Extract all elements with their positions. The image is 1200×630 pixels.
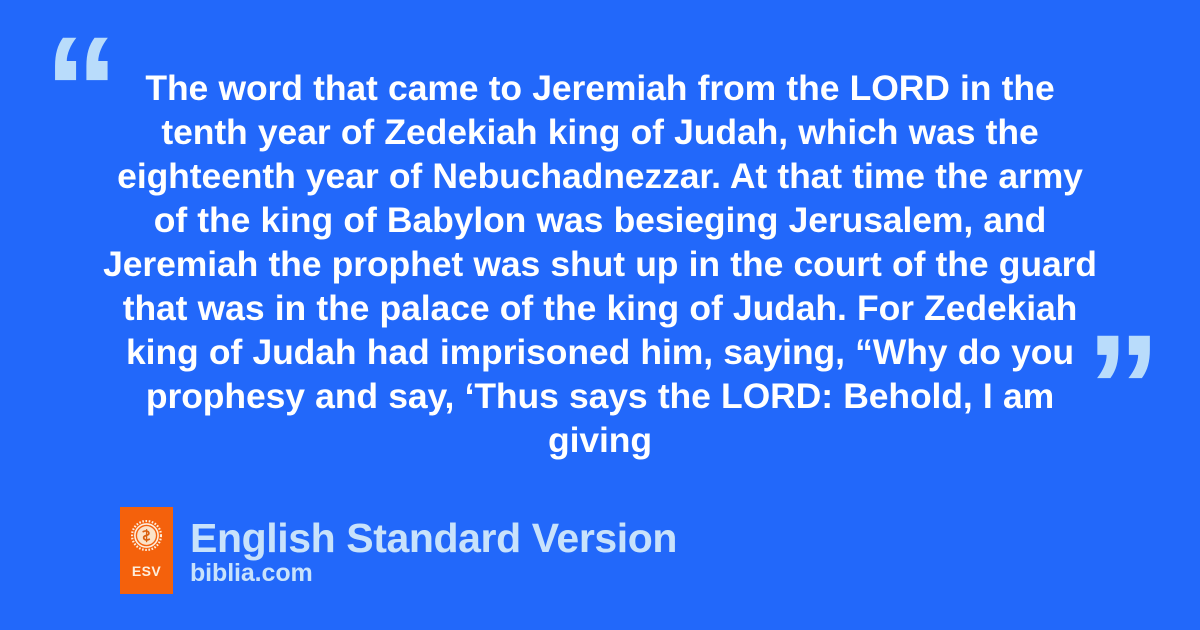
quote-text: The word that came to Jeremiah from the … xyxy=(100,66,1100,462)
esv-logo[interactable]: ESV xyxy=(120,507,173,594)
brand-title: English Standard Version xyxy=(190,515,677,561)
seal-emblem-icon xyxy=(131,520,162,551)
esv-abbreviation-label: ESV xyxy=(132,564,161,578)
footer-branding[interactable]: ESV English Standard Version biblia.com xyxy=(120,507,677,594)
verse-card: “ The word that came to Jeremiah from th… xyxy=(0,0,1200,630)
close-quote-icon: ” xyxy=(1086,312,1159,462)
brand-url[interactable]: biblia.com xyxy=(190,559,677,587)
quote-region: “ The word that came to Jeremiah from th… xyxy=(0,0,1200,440)
brand-text-block: English Standard Version biblia.com xyxy=(190,515,677,587)
